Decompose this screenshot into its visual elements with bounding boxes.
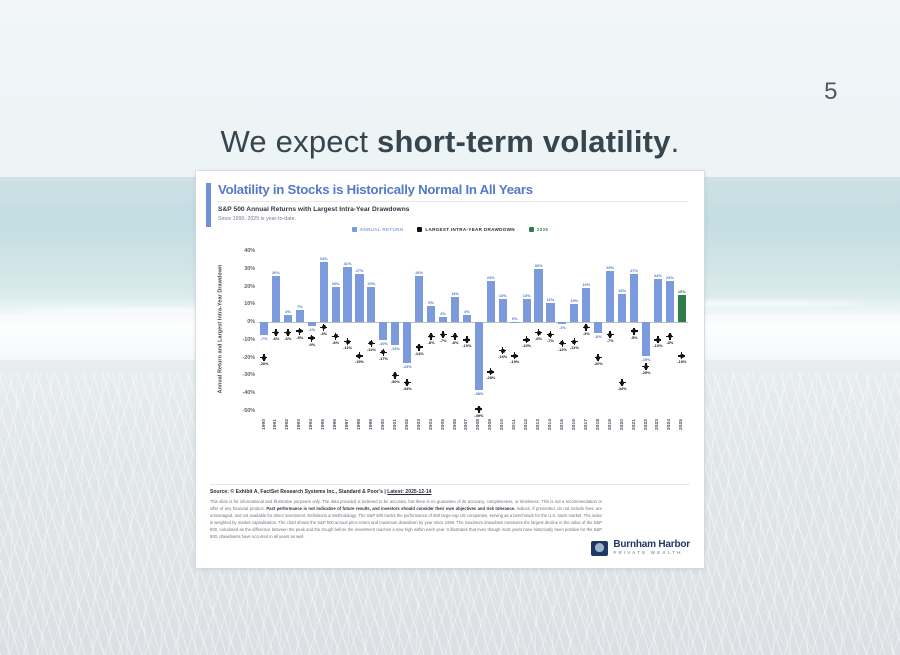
x-axis-tick: 1995 [318, 413, 330, 447]
page-title: We expect short-term volatility. [0, 124, 900, 160]
source-text: Source: © Exhibit A, FactSet Research Sy… [210, 489, 387, 495]
drawdown-value-label: -11% [570, 345, 579, 350]
drawdown-value-label: -25% [641, 370, 650, 375]
y-axis-tick-label: -20% [242, 355, 255, 361]
chart-bar[interactable] [367, 287, 375, 323]
chart-bar[interactable] [582, 288, 590, 322]
exhibit-title-divider [218, 201, 688, 202]
chart-bar[interactable] [678, 295, 686, 322]
chart-bar-group[interactable]: 34%-3% [318, 251, 330, 411]
drawdown-marker-icon[interactable] [620, 381, 624, 385]
x-axis-tick: 2015 [556, 413, 568, 447]
x-axis-tick: 1994 [306, 413, 318, 447]
page-number: 5 [824, 78, 838, 106]
drawdown-marker-icon[interactable] [286, 331, 290, 335]
drawdown-value-label: -10% [522, 343, 531, 348]
chart-bar-value-label: 9% [428, 300, 434, 305]
chart-bar-value-label: 27% [356, 268, 364, 273]
drawdown-marker-icon[interactable] [596, 356, 600, 360]
x-axis-tick-label: 1997 [345, 419, 350, 430]
x-axis-tick: 2022 [640, 413, 652, 447]
x-axis-tick-label: 2005 [441, 419, 446, 430]
brand-tagline: PRIVATE WEALTH [613, 551, 690, 556]
chart-bar[interactable] [558, 322, 566, 324]
x-axis-tick-label: 1998 [357, 419, 362, 430]
exhibit-card: Volatility in Stocks is Historically Nor… [196, 171, 704, 568]
chart-bar-group[interactable]: -23%-34% [401, 251, 413, 411]
y-axis-ticks: 40%30%20%10%0%-10%-20%-30%-40%-50% [232, 251, 258, 411]
drawdown-marker-icon[interactable] [441, 333, 445, 337]
chart-bar-group[interactable]: 27%-5% [628, 251, 640, 411]
x-axis-tick-label: 2009 [488, 419, 493, 430]
y-axis-tick-label: 10% [244, 301, 255, 307]
chart-bar[interactable] [343, 267, 351, 322]
drawdown-value-label: -7% [547, 338, 554, 343]
x-axis-tick-label: 2011 [512, 419, 517, 430]
chart-bar-group[interactable]: 19%-3% [580, 251, 592, 411]
x-axis-tick: 2011 [509, 413, 521, 447]
drawdown-marker-icon[interactable] [429, 334, 433, 338]
disclaimer-text: This slide is for informational and illu… [210, 499, 602, 541]
chart-bar-value-label: 23% [487, 275, 495, 280]
x-axis-tick: 2012 [521, 413, 533, 447]
chart-bar[interactable] [439, 317, 447, 322]
chart-bar-value-label: 15% [678, 289, 686, 294]
brand-logo: Burnham Harbor PRIVATE WEALTH [591, 540, 690, 556]
chart-bar-value-label: 10% [570, 298, 578, 303]
y-axis-tick-label: -50% [242, 408, 255, 414]
drawdown-value-label: -8% [428, 340, 435, 345]
drawdown-marker-icon[interactable] [417, 345, 421, 349]
chart-bar[interactable] [308, 322, 316, 326]
chart-bar-value-label: -13% [391, 346, 400, 351]
y-axis-tick-label: -30% [242, 372, 255, 378]
x-axis-tick: 2010 [497, 413, 509, 447]
x-axis-tick-label: 2007 [464, 419, 469, 430]
chart-bar-group[interactable]: 9%-8% [425, 251, 437, 411]
x-axis-tick-label: 1992 [285, 419, 290, 430]
y-axis-tick-label: 40% [244, 248, 255, 254]
x-axis-tick: 2023 [652, 413, 664, 447]
chart-bar-group[interactable]: 26%-6% [270, 251, 282, 411]
drawdown-marker-icon[interactable] [465, 338, 469, 342]
drawdown-value-label: -6% [284, 336, 291, 341]
chart-bar-value-label: 3% [440, 311, 446, 316]
x-axis-tick: 2016 [568, 413, 580, 447]
chart-bar[interactable] [296, 310, 304, 322]
footer-divider [210, 484, 690, 485]
drawdown-marker-icon[interactable] [632, 329, 636, 333]
chart-bar[interactable] [630, 274, 638, 322]
drawdown-marker-icon[interactable] [393, 373, 397, 377]
chart-bar-group[interactable]: 0%-19% [509, 251, 521, 411]
chart-bar-value-label: 4% [285, 309, 291, 314]
chart-bar[interactable] [618, 294, 626, 322]
x-axis-tick: 2001 [389, 413, 401, 447]
x-axis-tick: 1990 [258, 413, 270, 447]
exhibit-title: Volatility in Stocks is Historically Nor… [218, 182, 688, 197]
chart-bar[interactable] [272, 276, 280, 322]
drawdown-value-label: -5% [296, 335, 303, 340]
drawdown-marker-icon[interactable] [584, 325, 588, 329]
x-axis-tick: 2025 [676, 413, 688, 447]
drawdown-marker-icon[interactable] [560, 341, 564, 345]
drawdown-value-label: -3% [583, 331, 590, 336]
x-axis-tick-label: 2022 [643, 419, 648, 430]
chart-bar-group[interactable]: 26%-14% [413, 251, 425, 411]
page-title-light: We expect [221, 124, 378, 159]
drawdown-value-label: -8% [666, 340, 673, 345]
chart-bar[interactable] [379, 322, 387, 340]
brand-name: Burnham Harbor [613, 540, 690, 550]
chart-bar-value-label: 13% [499, 293, 507, 298]
chart-bar[interactable] [487, 281, 495, 322]
x-axis-tick-label: 2001 [393, 419, 398, 430]
x-axis-tick-label: 1999 [369, 419, 374, 430]
chart-bar[interactable] [463, 315, 471, 322]
chart-bar[interactable] [320, 262, 328, 322]
x-axis-tick-label: 2021 [632, 419, 637, 430]
page-title-bold: short-term volatility [377, 124, 671, 159]
drawdown-marker-icon[interactable] [381, 350, 385, 354]
chart-bar[interactable] [355, 274, 363, 322]
y-axis-tick-label: -10% [242, 337, 255, 343]
drawdown-value-label: -8% [332, 340, 339, 345]
chart-bar-group[interactable]: 30%-6% [533, 251, 545, 411]
drawdown-marker-icon[interactable] [537, 331, 541, 335]
disclaimer-emphasis: Past performance is not indicative of fu… [266, 506, 515, 511]
legend-label: ANNUAL RETURN [360, 227, 404, 232]
chart-canvas: 40%30%20%10%0%-10%-20%-30%-40%-50% -7%-2… [232, 251, 688, 411]
drawdown-marker-icon[interactable] [369, 341, 373, 345]
y-axis-tick-label: 20% [244, 284, 255, 290]
chart-bar[interactable] [499, 299, 507, 322]
chart-bar-value-label: -10% [379, 341, 388, 346]
chart-bar-value-label: 0% [512, 316, 518, 321]
drawdown-marker-icon[interactable] [274, 331, 278, 335]
chart-bar-group[interactable]: 29%-7% [604, 251, 616, 411]
exhibit-subtitle: S&P 500 Annual Returns with Largest Intr… [218, 206, 410, 213]
chart-bar-group[interactable]: -7%-20% [258, 251, 270, 411]
x-axis-tick: 2014 [545, 413, 557, 447]
drawdown-marker-icon[interactable] [489, 370, 493, 374]
chart-bar-group[interactable]: 27%-19% [354, 251, 366, 411]
chart-bar-value-label: -6% [595, 334, 602, 339]
drawdown-value-label: -10% [653, 343, 662, 348]
drawdown-value-label: -12% [558, 347, 567, 352]
drawdown-value-label: -17% [379, 356, 388, 361]
y-axis-tick-label: 30% [244, 266, 255, 272]
legend-swatch-icon [417, 227, 422, 232]
chart-bar-value-label: 34% [320, 256, 328, 261]
drawdown-marker-icon[interactable] [453, 334, 457, 338]
chart-bar[interactable] [284, 315, 292, 322]
x-axis-tick: 1991 [270, 413, 282, 447]
x-axis-tick-label: 2018 [596, 419, 601, 430]
chart-bar-group[interactable]: 4%-10% [461, 251, 473, 411]
x-axis-tick: 2024 [664, 413, 676, 447]
x-axis-tick: 2013 [533, 413, 545, 447]
chart-bar-value-label: 4% [464, 309, 470, 314]
drawdown-marker-icon[interactable] [513, 354, 517, 358]
x-axis-tick-label: 2012 [524, 419, 529, 430]
drawdown-value-label: -19% [355, 359, 364, 364]
drawdown-value-label: -19% [510, 359, 519, 364]
drawdown-marker-icon[interactable] [346, 340, 350, 344]
chart-bar-value-label: -1% [559, 325, 566, 330]
x-axis-tick-label: 2023 [655, 419, 660, 430]
legend-item[interactable]: LARGEST INTRA-YEAR DRAWDOWN [417, 227, 515, 232]
y-axis-tick-label: -40% [242, 390, 255, 396]
x-axis-tick-label: 1995 [321, 419, 326, 430]
x-axis-ticks: 1990199119921993199419951996199719981999… [258, 413, 688, 447]
drawdown-marker-icon[interactable] [322, 325, 326, 329]
chart-bar-group[interactable]: -2%-9% [306, 251, 318, 411]
chart-bar[interactable] [415, 276, 423, 322]
chart-bar-group[interactable]: 15%-19% [676, 251, 688, 411]
drawdown-value-label: -8% [452, 340, 459, 345]
drawdown-value-label: -11% [343, 345, 352, 350]
legend-item[interactable]: 2025 [529, 227, 548, 232]
chart-bar-group[interactable]: 23%-8% [664, 251, 676, 411]
chart-bar-group[interactable]: -19%-25% [640, 251, 652, 411]
chart-bar[interactable] [546, 303, 554, 323]
x-axis-tick-label: 2015 [560, 419, 565, 430]
drawdown-value-label: -34% [618, 386, 627, 391]
drawdown-value-label: -12% [367, 347, 376, 352]
chart-bar[interactable] [666, 281, 674, 322]
x-axis-tick-label: 2016 [572, 419, 577, 430]
chart-bar-value-label: -19% [641, 357, 650, 362]
chart-bar-group[interactable]: 13%-10% [521, 251, 533, 411]
drawdown-value-label: -30% [391, 379, 400, 384]
chart-bar-group[interactable]: -13%-30% [389, 251, 401, 411]
drawdown-value-label: -28% [486, 375, 495, 380]
chart-bar[interactable] [260, 322, 268, 334]
chart-legend: ANNUAL RETURNLARGEST INTRA-YEAR DRAWDOWN… [196, 227, 704, 232]
chart-bars: -7%-20%26%-6%4%-6%7%-5%-2%-9%34%-3%20%-8… [258, 251, 688, 411]
chart-bar-group[interactable]: 13%-16% [497, 251, 509, 411]
chart-bar-group[interactable]: 23%-28% [485, 251, 497, 411]
chart-bar-value-label: -23% [403, 364, 412, 369]
chart-bar-value-label: 13% [523, 293, 531, 298]
legend-label: 2025 [537, 227, 548, 232]
chart-bar-group[interactable]: -6%-20% [592, 251, 604, 411]
x-axis-tick: 2017 [580, 413, 592, 447]
chart-bar-value-label: -2% [308, 327, 315, 332]
legend-item[interactable]: ANNUAL RETURN [352, 227, 404, 232]
legend-swatch-icon [352, 227, 357, 232]
chart-bar-value-label: -38% [474, 391, 483, 396]
chart-bar-value-label: -7% [261, 336, 268, 341]
x-axis-tick: 2008 [473, 413, 485, 447]
x-axis-tick-label: 2024 [667, 419, 672, 430]
chart-bar-group[interactable]: 10%-11% [568, 251, 580, 411]
drawdown-value-label: -20% [594, 361, 603, 366]
chart-bar-group[interactable]: 24%-10% [652, 251, 664, 411]
x-axis-tick: 1992 [282, 413, 294, 447]
x-axis-tick-label: 1991 [273, 419, 278, 430]
chart-plot-area: Annual Return and Largest Intra-Year Dra… [218, 249, 688, 449]
x-axis-tick: 2006 [449, 413, 461, 447]
drawdown-marker-icon[interactable] [477, 407, 481, 411]
drawdown-value-label: -10% [462, 343, 471, 348]
chart-bar-value-label: 20% [332, 281, 340, 286]
chart-bar[interactable] [427, 306, 435, 322]
x-axis-tick-label: 2010 [500, 419, 505, 430]
drawdown-marker-icon[interactable] [357, 354, 361, 358]
chart-bar[interactable] [332, 287, 340, 323]
chart-bar-group[interactable]: 16%-34% [616, 251, 628, 411]
legend-label: LARGEST INTRA-YEAR DRAWDOWN [425, 227, 515, 232]
drawdown-marker-icon[interactable] [405, 381, 409, 385]
source-latest-link[interactable]: Latest: 2025-12-14 [387, 489, 431, 495]
chart-bar-group[interactable]: 20%-8% [330, 251, 342, 411]
drawdown-marker-icon[interactable] [644, 365, 648, 369]
chart-bar-group[interactable]: 11%-7% [545, 251, 557, 411]
chart-bar-group[interactable]: 14%-8% [449, 251, 461, 411]
x-axis-tick: 2007 [461, 413, 473, 447]
x-axis-tick: 2003 [413, 413, 425, 447]
y-axis-title: Annual Return and Largest Intra-Year Dra… [214, 249, 226, 409]
x-axis-tick: 2019 [604, 413, 616, 447]
drawdown-value-label: -7% [607, 338, 614, 343]
x-axis-tick: 1996 [330, 413, 342, 447]
chart-bar-group[interactable]: 4%-6% [282, 251, 294, 411]
x-axis-tick-label: 1993 [297, 419, 302, 430]
drawdown-value-label: -3% [320, 331, 327, 336]
source-line: Source: © Exhibit A, FactSet Research Sy… [210, 489, 690, 495]
x-axis-tick-label: 2002 [405, 419, 410, 430]
drawdown-marker-icon[interactable] [572, 340, 576, 344]
sailboat-icon [591, 541, 608, 556]
drawdown-value-label: -9% [308, 342, 315, 347]
x-axis-tick: 2021 [628, 413, 640, 447]
chart-bar[interactable] [594, 322, 602, 333]
chart-bar-group[interactable]: 31%-11% [342, 251, 354, 411]
drawdown-value-label: -7% [440, 338, 447, 343]
x-axis-tick-label: 2006 [452, 419, 457, 430]
x-axis-tick-label: 1990 [261, 419, 266, 430]
chart-bar-value-label: 23% [666, 275, 674, 280]
chart-bar-group[interactable]: 3%-7% [437, 251, 449, 411]
x-axis-tick: 2009 [485, 413, 497, 447]
x-axis-tick-label: 1996 [333, 419, 338, 430]
x-axis-tick: 2000 [377, 413, 389, 447]
chart-bar-value-label: 20% [368, 281, 376, 286]
x-axis-tick-label: 2013 [536, 419, 541, 430]
drawdown-marker-icon[interactable] [680, 354, 684, 358]
chart-bar-value-label: 16% [618, 288, 626, 293]
x-axis-tick-label: 2003 [417, 419, 422, 430]
drawdown-marker-icon[interactable] [262, 356, 266, 360]
chart-bar-value-label: 26% [272, 270, 280, 275]
drawdown-value-label: -6% [272, 336, 279, 341]
chart-bar-value-label: 7% [297, 304, 303, 309]
chart-bar-value-label: 14% [451, 291, 459, 296]
drawdown-marker-icon[interactable] [608, 333, 612, 337]
drawdown-marker-icon[interactable] [668, 334, 672, 338]
x-axis-tick: 2005 [437, 413, 449, 447]
drawdown-value-label: -6% [535, 336, 542, 341]
x-axis-tick: 1999 [365, 413, 377, 447]
x-axis-tick-label: 2017 [584, 419, 589, 430]
chart-bar[interactable] [606, 271, 614, 323]
chart-bar[interactable] [451, 297, 459, 322]
chart-bar-value-label: 30% [535, 263, 543, 268]
chart-bar-group[interactable]: 7%-5% [294, 251, 306, 411]
chart-bar[interactable] [523, 299, 531, 322]
legend-swatch-icon [529, 227, 534, 232]
drawdown-value-label: -20% [259, 361, 268, 366]
drawdown-value-label: -14% [415, 351, 424, 356]
x-axis-tick: 2004 [425, 413, 437, 447]
chart-bar-group[interactable]: 20%-12% [365, 251, 377, 411]
drawdown-value-label: -34% [403, 386, 412, 391]
drawdown-marker-icon[interactable] [525, 338, 529, 342]
drawdown-marker-icon[interactable] [656, 338, 660, 342]
x-axis-tick-label: 2008 [476, 419, 481, 430]
chart-bar[interactable] [570, 304, 578, 322]
x-axis-tick: 1997 [342, 413, 354, 447]
drawdown-marker-icon[interactable] [334, 334, 338, 338]
y-axis-tick-label: 0% [247, 319, 255, 325]
chart-bar[interactable] [511, 322, 519, 323]
drawdown-marker-icon[interactable] [298, 329, 302, 333]
chart-bar[interactable] [654, 279, 662, 322]
x-axis-tick-label: 2000 [381, 419, 386, 430]
chart-bar[interactable] [475, 322, 483, 390]
x-axis-tick: 2020 [616, 413, 628, 447]
drawdown-value-label: -16% [498, 354, 507, 359]
chart-bar-group[interactable]: -10%-17% [377, 251, 389, 411]
x-axis-tick: 1998 [354, 413, 366, 447]
x-axis-tick-label: 2014 [548, 419, 553, 430]
y-axis-title-text: Annual Return and Largest Intra-Year Dra… [217, 265, 223, 394]
chart-bar-value-label: 19% [582, 282, 590, 287]
chart-bar-value-label: 27% [630, 268, 638, 273]
drawdown-marker-icon[interactable] [501, 349, 505, 353]
x-axis-tick: 2002 [401, 413, 413, 447]
x-axis-tick-label: 1994 [309, 419, 314, 430]
x-axis-tick-label: 2025 [679, 419, 684, 430]
chart-bar-value-label: 24% [654, 273, 662, 278]
drawdown-marker-icon[interactable] [548, 333, 552, 337]
x-axis-tick: 2018 [592, 413, 604, 447]
page-title-period: . [671, 124, 680, 159]
exhibit-accent-bar [206, 183, 211, 227]
drawdown-marker-icon[interactable] [310, 336, 314, 340]
chart-bar[interactable] [391, 322, 399, 345]
chart-bar-group[interactable]: -38%-49% [473, 251, 485, 411]
x-axis-tick-label: 2019 [608, 419, 613, 430]
chart-bar[interactable] [403, 322, 411, 363]
exhibit-note: Since 1990. 2025 is year-to-date. [218, 216, 296, 222]
drawdown-value-label: -19% [677, 359, 686, 364]
x-axis-tick: 1993 [294, 413, 306, 447]
drawdown-value-label: -5% [631, 335, 638, 340]
chart-bar[interactable] [534, 269, 542, 322]
chart-bar-value-label: 29% [606, 265, 614, 270]
chart-bar-value-label: 26% [415, 270, 423, 275]
x-axis-tick-label: 2004 [429, 419, 434, 430]
chart-bar-value-label: 11% [547, 297, 555, 302]
chart-bar-value-label: 31% [344, 261, 352, 266]
chart-bar-group[interactable]: -1%-12% [556, 251, 568, 411]
x-axis-tick-label: 2020 [620, 419, 625, 430]
chart-bar[interactable] [642, 322, 650, 356]
